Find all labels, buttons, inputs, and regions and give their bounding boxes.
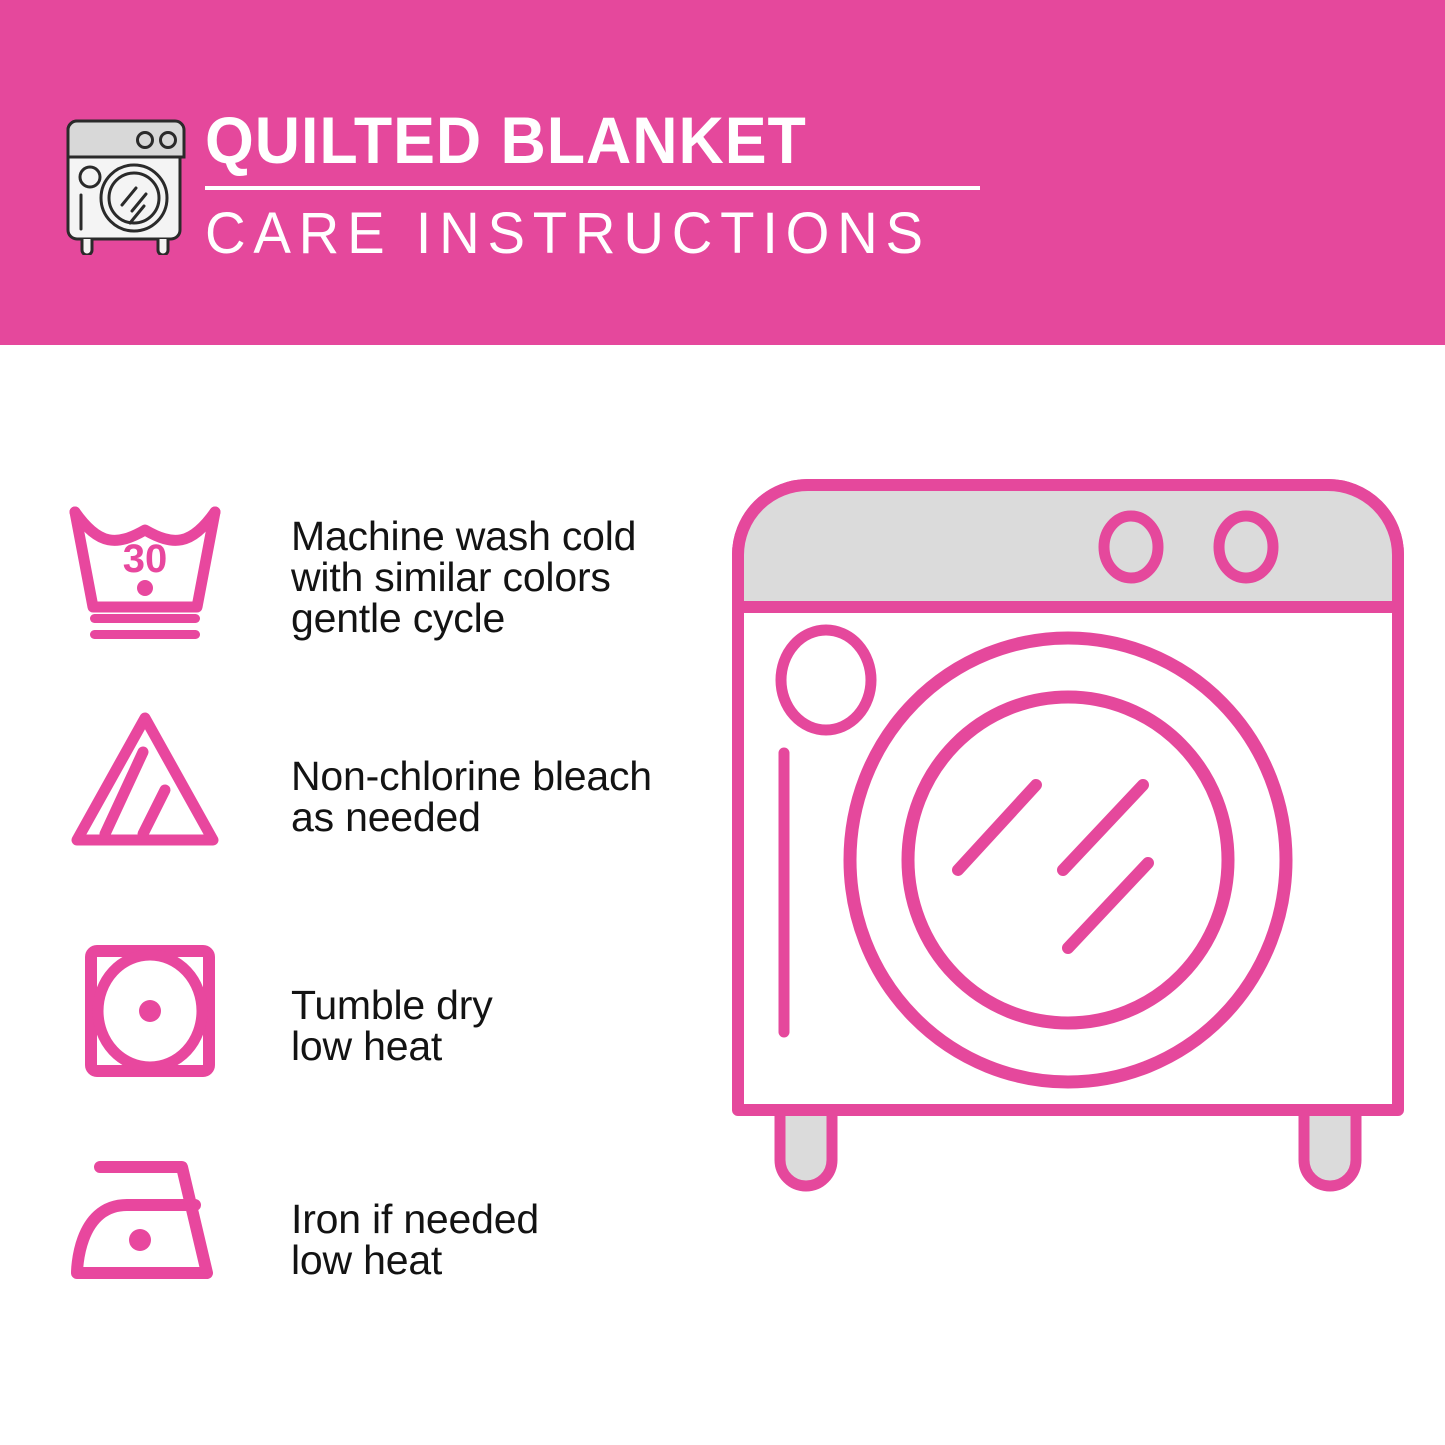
header-text-block: QUILTED BLANKET CARE INSTRUCTIONS xyxy=(205,100,995,269)
care-item-label: Tumble dry low heat xyxy=(291,985,493,1067)
bleach-triangle-icon xyxy=(65,708,225,858)
care-item-label: Iron if needed low heat xyxy=(291,1199,539,1281)
care-text-line: as needed xyxy=(291,797,652,838)
care-text-line: Iron if needed xyxy=(291,1199,539,1240)
page-title: QUILTED BLANKET xyxy=(205,100,956,180)
care-text-line: with similar colors xyxy=(291,557,636,598)
care-item-label: Non-chlorine bleach as needed xyxy=(291,756,652,838)
care-text-line: Non-chlorine bleach xyxy=(291,756,652,797)
header-band: QUILTED BLANKET CARE INSTRUCTIONS xyxy=(0,0,1445,345)
page-subtitle: CARE INSTRUCTIONS xyxy=(205,199,971,269)
wash-basin-icon: 30 xyxy=(65,500,225,645)
iron-icon xyxy=(65,1153,240,1293)
wash-temperature-label: 30 xyxy=(123,537,168,581)
tumble-dry-icon xyxy=(65,941,215,1086)
care-item-label: Machine wash cold with similar colors ge… xyxy=(291,516,636,639)
care-instruction-list: 30 Machine wash cold with similar colors… xyxy=(0,345,690,1445)
washing-machine-icon xyxy=(62,105,190,255)
care-text-line: low heat xyxy=(291,1240,539,1281)
header-divider xyxy=(205,186,980,190)
care-text-line: gentle cycle xyxy=(291,598,636,639)
care-text-line: Tumble dry xyxy=(291,985,493,1026)
washing-machine-illustration xyxy=(718,470,1418,1360)
care-text-line: Machine wash cold xyxy=(291,516,636,557)
care-text-line: low heat xyxy=(291,1026,493,1067)
